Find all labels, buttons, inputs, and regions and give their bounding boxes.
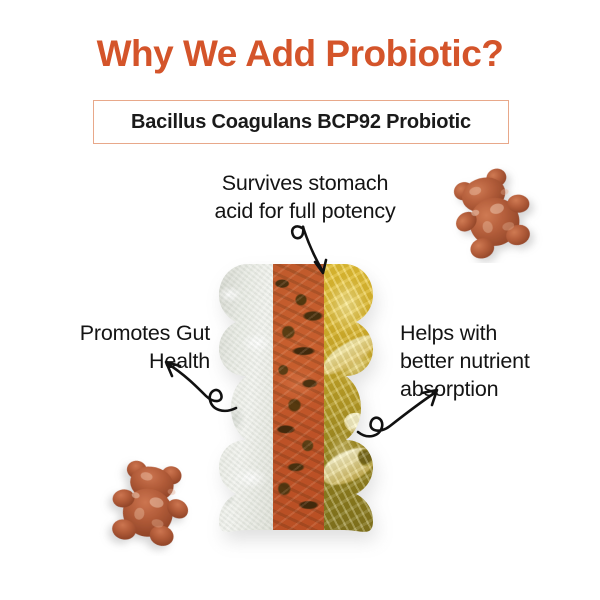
gummy-bear-top-right: [440, 163, 546, 263]
intestine-tube-icon: [324, 328, 374, 381]
annotation-left-line1: Promotes Gut: [20, 320, 210, 348]
infographic-canvas: Why We Add Probiotic? Bacillus Coagulans…: [0, 0, 600, 600]
page-title: Why We Add Probiotic?: [0, 33, 600, 76]
subtitle-box: Bacillus Coagulans BCP92 Probiotic: [93, 100, 509, 144]
arrow-left-icon: [158, 352, 242, 416]
annotation-right-line1: Helps with: [400, 320, 585, 348]
band-orange-bacteria: [273, 262, 324, 532]
annotation-right-line2: better nutrient: [400, 348, 585, 376]
subtitle-text: Bacillus Coagulans BCP92 Probiotic: [131, 111, 471, 134]
arrow-top-icon: [282, 222, 352, 284]
annotation-top: Survives stomach acid for full potency: [150, 170, 460, 226]
gummy-bear-bottom-left: [96, 452, 204, 556]
annotation-top-line1: Survives stomach: [150, 170, 460, 198]
intestine-tube-icon: [324, 440, 374, 492]
arrow-right-icon: [352, 382, 448, 446]
